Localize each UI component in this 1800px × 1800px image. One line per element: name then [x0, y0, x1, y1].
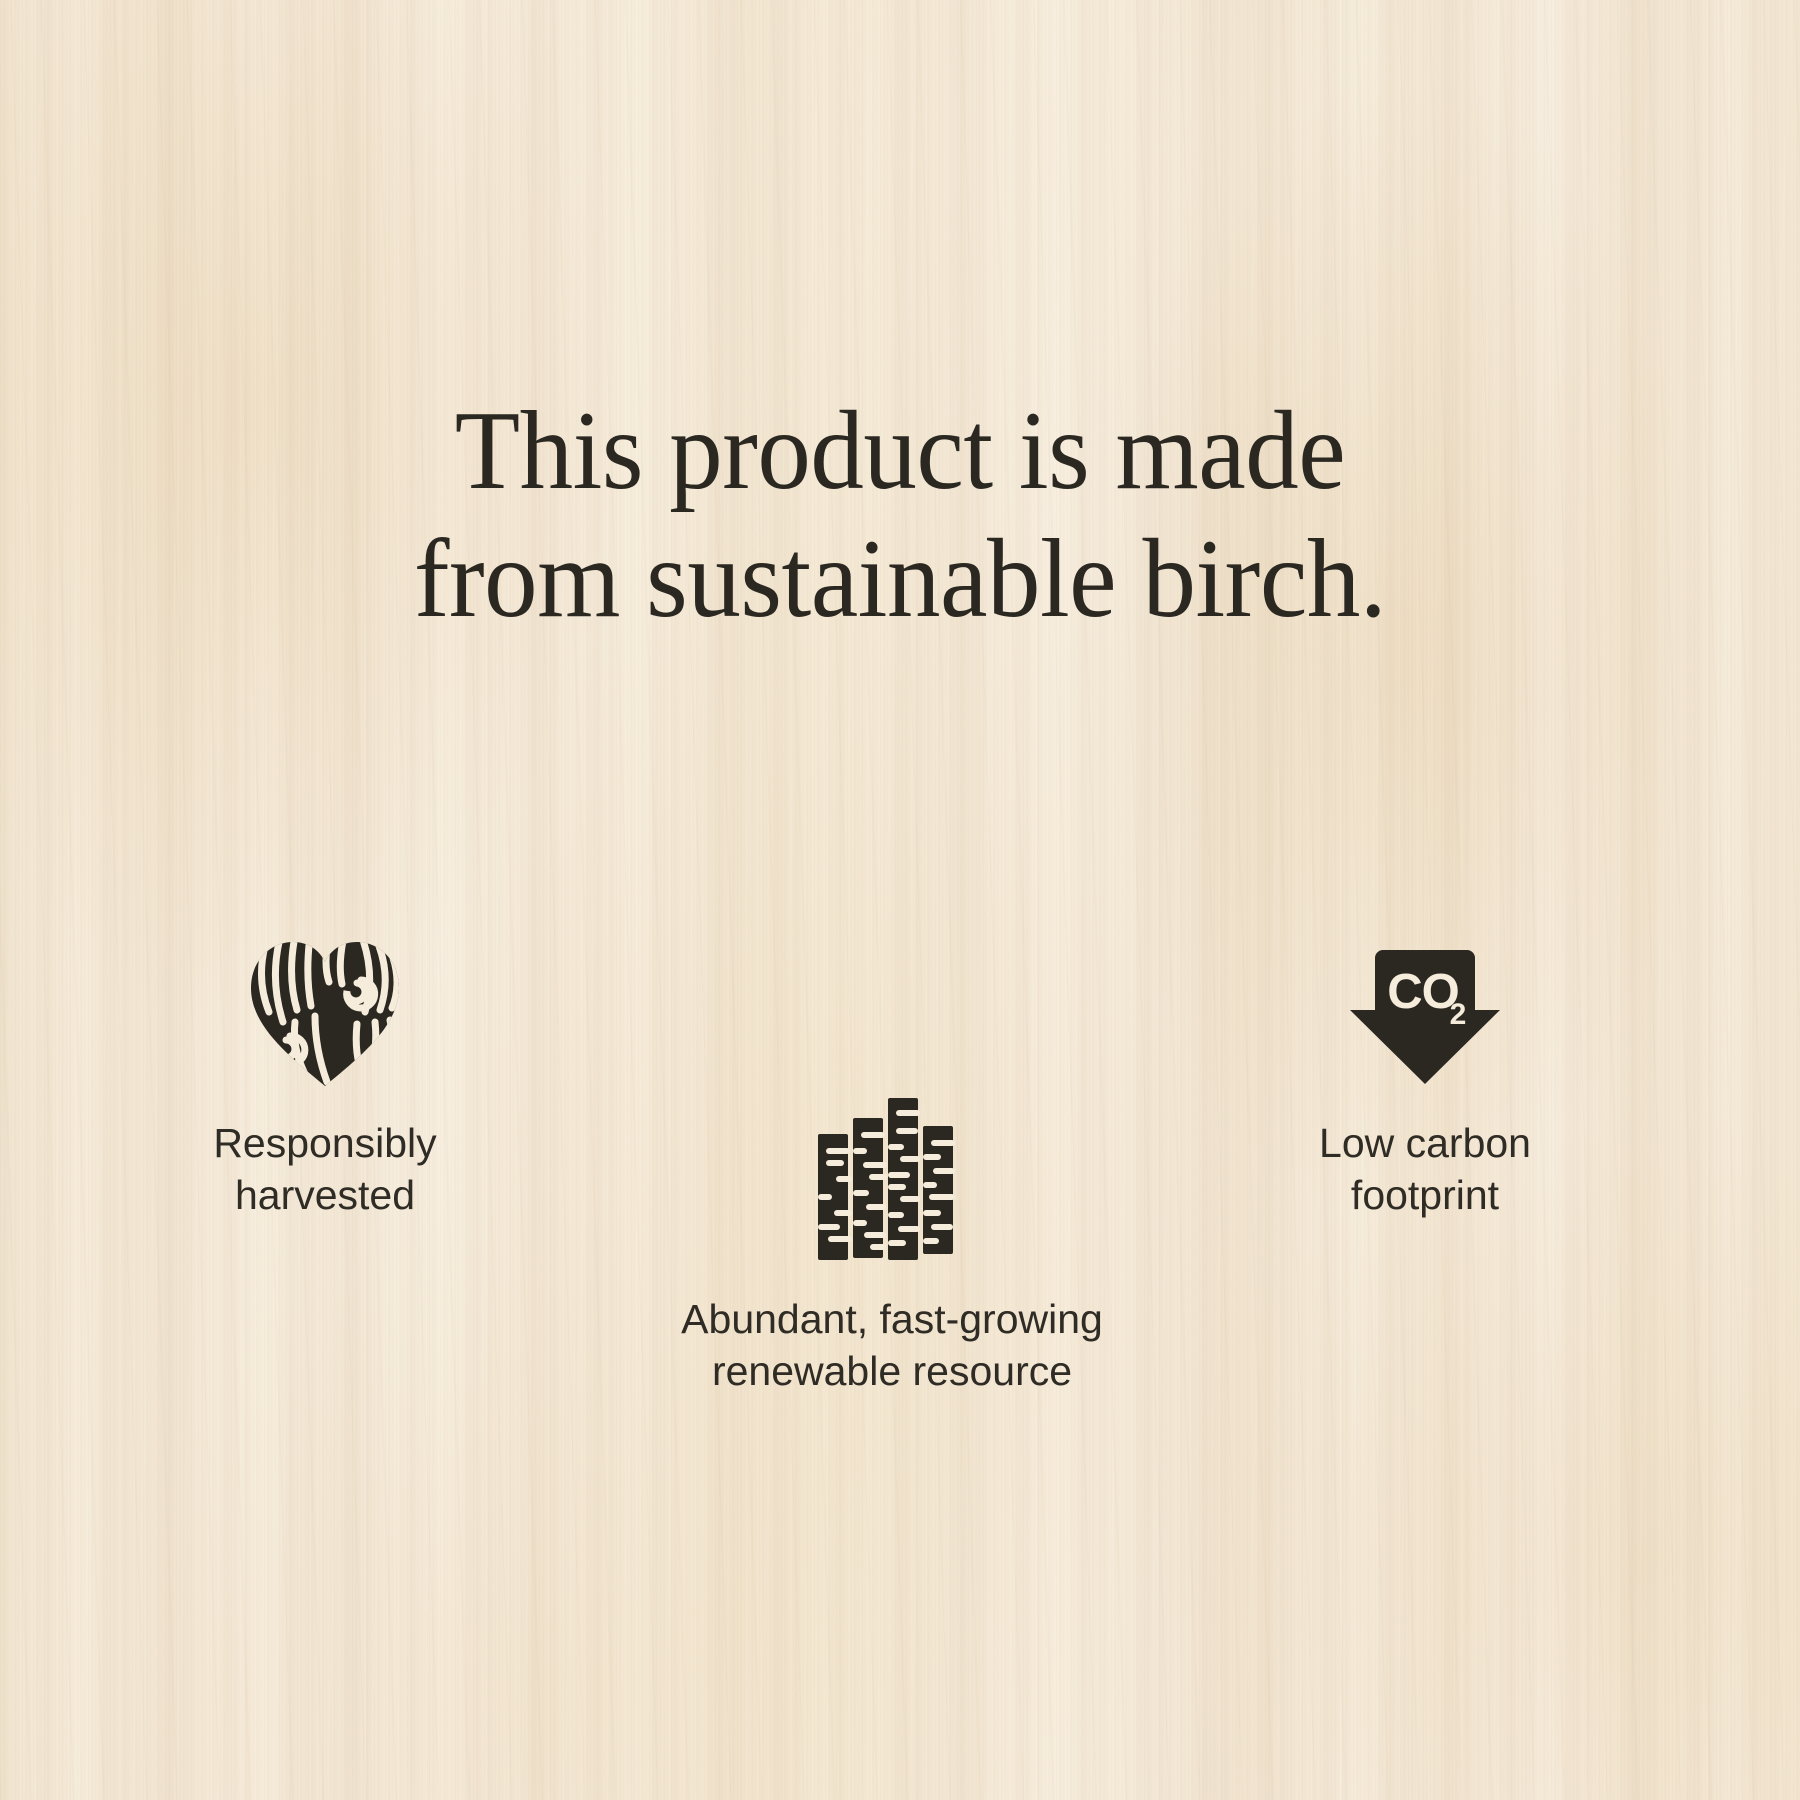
sustainability-poster: This product is made from sustainable bi…	[0, 0, 1800, 1800]
background-noise-layer	[0, 0, 1800, 1800]
feature-caption-line-2: renewable resource	[562, 1346, 1222, 1398]
feature-caption: Low carbon footprint	[1185, 1118, 1665, 1221]
feature-icon-container: CO 2	[1185, 920, 1665, 1088]
feature-responsibly-harvested: Responsibly harvested	[110, 920, 540, 1221]
feature-icon-container	[562, 1060, 1222, 1260]
feature-caption: Responsibly harvested	[110, 1118, 540, 1221]
feature-caption-line-2: harvested	[110, 1170, 540, 1222]
feature-low-carbon-footprint: CO 2 Low carbon footprint	[1185, 920, 1665, 1221]
feature-caption-line-1: Low carbon	[1185, 1118, 1665, 1170]
headline-line-1: This product is made	[41, 388, 1760, 516]
co2-down-arrow-icon: CO 2	[1345, 946, 1505, 1088]
feature-caption-line-1: Responsibly	[110, 1118, 540, 1170]
feature-caption: Abundant, fast-growing renewable resourc…	[562, 1294, 1222, 1397]
feature-caption-line-1: Abundant, fast-growing	[562, 1294, 1222, 1346]
birch-trees-icon	[816, 1098, 968, 1260]
co2-icon-label: CO	[1387, 965, 1459, 1019]
feature-renewable-resource: Abundant, fast-growing renewable resourc…	[562, 1060, 1222, 1397]
headline-line-2: from sustainable birch.	[41, 516, 1760, 644]
feature-caption-line-2: footprint	[1185, 1170, 1665, 1222]
headline: This product is made from sustainable bi…	[41, 388, 1760, 643]
wood-grain-heart-icon	[245, 936, 405, 1088]
co2-icon-subscript: 2	[1450, 998, 1467, 1031]
feature-icon-container	[110, 920, 540, 1088]
